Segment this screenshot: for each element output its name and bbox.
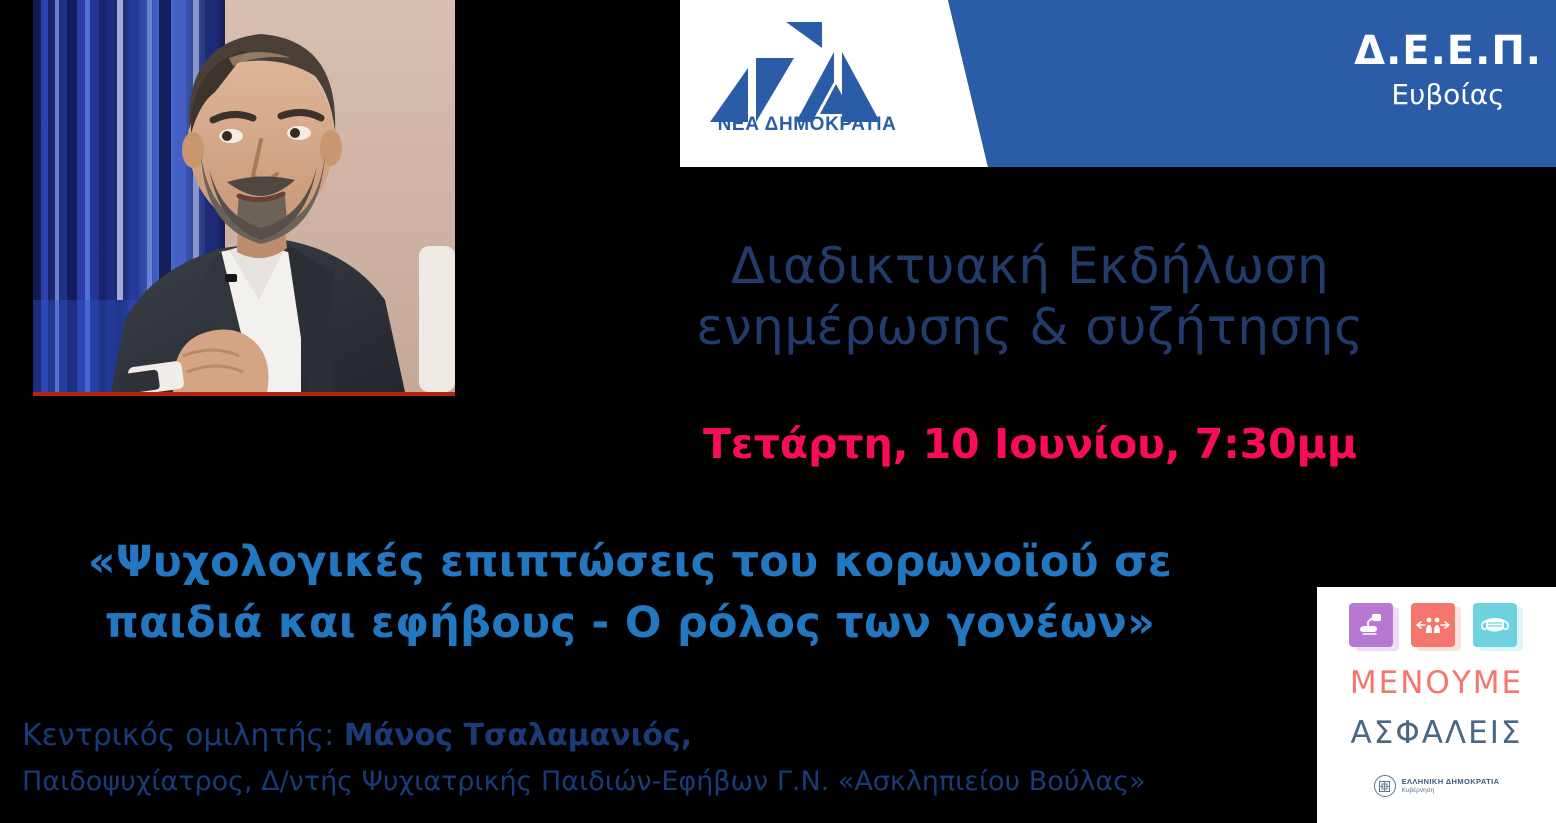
speaker-photo-image [33, 0, 455, 392]
safe-logo-word2: ΑΣΦΑΛΕΙΣ [1317, 715, 1556, 751]
event-title-line1: Διαδικτυακή Εκδήλωση [680, 236, 1380, 297]
event-title-line2: ενημέρωσης & συζήτησης [680, 297, 1380, 358]
hand-wash-icon [1349, 603, 1401, 653]
event-poster: ΝΕΑ ΔΗΜΟΚΡΑΤΙΑ Δ.Ε.Ε.Π. Ευβοίας Διαδικτυ… [0, 0, 1556, 823]
speaker-line: Κεντρικός ομιλητής: Μάνος Τσαλαμανιός, [22, 718, 692, 753]
face-mask-icon [1473, 603, 1525, 653]
speaker-name: Μάνος Τσαλαμανιός, [344, 718, 692, 753]
speaker-role: Παιδοψυχίατρος, Δ/ντής Ψυχιατρικής Παιδι… [22, 766, 1146, 797]
nea-dimokratia-wordmark: ΝΕΑ ΔΗΜΟΚΡΑΤΙΑ [702, 114, 912, 136]
deep-region: Ευβοίας [1354, 78, 1542, 111]
menoume-asfaleis-logo: ΜΕΝΟΥΜΕ ΑΣΦΑΛΕΙΣ ΕΛΛΗΝΙΚΗ ΔΗΜΟΚΡΑΤΙΑ Κυβ… [1317, 587, 1556, 823]
safe-logo-word1: ΜΕΝΟΥΜΕ [1317, 665, 1556, 701]
event-date: Τετάρτη, 10 Ιουνίου, 7:30μμ [680, 420, 1380, 468]
header-band: ΝΕΑ ΔΗΜΟΚΡΑΤΙΑ Δ.Ε.Ε.Π. Ευβοίας [680, 0, 1556, 167]
hellenic-republic-seal-icon [1374, 775, 1396, 797]
government-line1: ΕΛΛΗΝΙΚΗ ΔΗΜΟΚΡΑΤΙΑ [1402, 778, 1500, 787]
deep-abbrev: Δ.Ε.Ε.Π. [1354, 30, 1542, 72]
social-distance-icon [1411, 603, 1463, 653]
government-credit: ΕΛΛΗΝΙΚΗ ΔΗΜΟΚΡΑΤΙΑ Κυβέρνηση [1317, 775, 1556, 797]
speaker-prefix: Κεντρικός ομιλητής: [22, 718, 344, 753]
safe-icons-row [1317, 603, 1556, 653]
talk-title: «Ψυχολογικές επιπτώσεις του κορωνοϊού σε… [40, 532, 1220, 654]
government-text: ΕΛΛΗΝΙΚΗ ΔΗΜΟΚΡΑΤΙΑ Κυβέρνηση [1402, 778, 1500, 794]
government-line2: Κυβέρνηση [1402, 787, 1500, 794]
event-title: Διαδικτυακή Εκδήλωση ενημέρωσης & συζήτη… [680, 236, 1380, 358]
talk-title-line1: «Ψυχολογικές επιπτώσεις του κορωνοϊού σε [40, 532, 1220, 593]
talk-title-line2: παιδιά και εφήβους - Ο ρόλος των γονέων» [40, 593, 1220, 654]
speaker-photo [33, 0, 455, 396]
deep-block: Δ.Ε.Ε.Π. Ευβοίας [1354, 30, 1542, 111]
